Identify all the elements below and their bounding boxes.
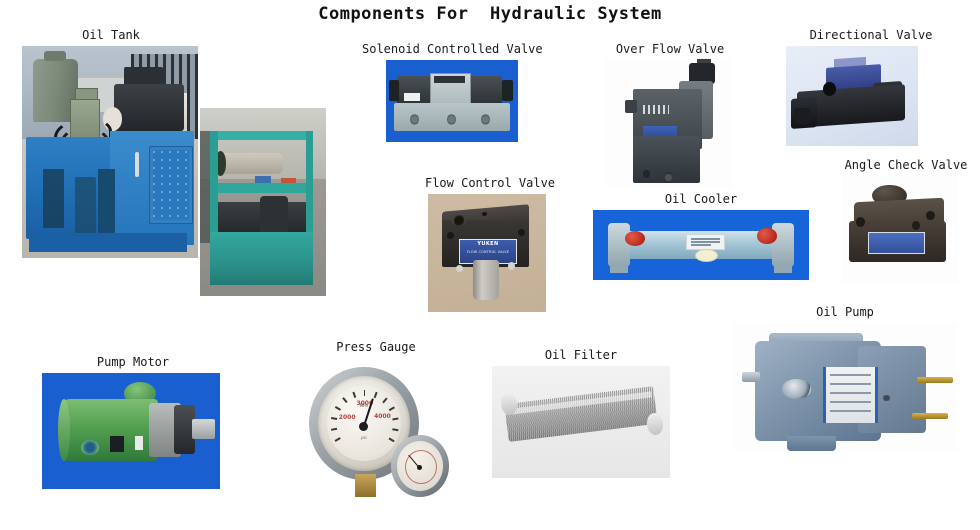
component-label-oil-pump: Oil Pump xyxy=(725,305,965,319)
photo-variable-displacement-piston-pump[interactable] xyxy=(733,323,957,451)
component-label-solenoid-controlled-valve: Solenoid Controlled Valve xyxy=(362,42,542,56)
gauge-units: MPa xyxy=(327,403,401,408)
component-flow-control-valve[interactable]: Flow Control Valve YUKEN FLOW CONTROL VA… xyxy=(418,176,562,316)
nameplate-text: FLOW CONTROL VALVE xyxy=(460,250,517,254)
photo-mesh-filter-element[interactable] xyxy=(492,366,670,478)
component-label-over-flow-valve: Over Flow Valve xyxy=(597,42,743,56)
photo-directional-control-valve-black-blue[interactable] xyxy=(786,46,918,146)
component-oil-tank[interactable]: Oil Tank xyxy=(18,28,204,260)
photo-relief-valve-grey[interactable] xyxy=(605,58,733,188)
photo-pressure-gauge-large[interactable]: 2000 3000 4000 MPa psi xyxy=(300,358,452,500)
photo-shell-and-tube-oil-cooler[interactable] xyxy=(593,210,809,280)
photo-pressure-gauge-small[interactable] xyxy=(391,435,449,497)
component-over-flow-valve[interactable]: Over Flow Valve xyxy=(597,42,743,190)
gauge-mark-1: 2000 xyxy=(339,414,356,421)
component-oil-cooler[interactable]: Oil Cooler xyxy=(585,192,817,284)
nameplate-brand: YUKEN xyxy=(460,241,517,247)
photo-angle-check-valve-brown[interactable] xyxy=(842,176,958,284)
component-label-oil-cooler: Oil Cooler xyxy=(585,192,817,206)
component-directional-valve[interactable]: Directional Valve xyxy=(778,28,964,150)
page-title: Components For Hydraulic System xyxy=(0,4,980,24)
gauge-brand-text: psi xyxy=(327,435,401,440)
photo-green-axial-piston-pump-motor[interactable] xyxy=(42,373,220,489)
component-label-directional-valve: Directional Valve xyxy=(778,28,964,42)
component-oil-tank-secondary[interactable] xyxy=(200,108,326,298)
poster-board: Components For Hydraulic System Oil Tank xyxy=(0,0,980,530)
component-label-oil-filter: Oil Filter xyxy=(488,348,674,362)
component-oil-pump[interactable]: Oil Pump xyxy=(725,305,965,455)
gauge-mark-3: 4000 xyxy=(374,413,391,420)
component-label-pump-motor: Pump Motor xyxy=(40,355,226,369)
photo-blue-hydraulic-power-unit[interactable] xyxy=(22,46,198,258)
component-label-press-gauge: Press Gauge xyxy=(292,340,460,354)
photo-solenoid-valve-on-blue-background[interactable] xyxy=(386,60,518,142)
component-oil-filter[interactable]: Oil Filter xyxy=(488,348,674,488)
component-label-oil-tank: Oil Tank xyxy=(18,28,204,42)
component-pump-motor[interactable]: Pump Motor xyxy=(40,355,226,495)
photo-teal-hydraulic-power-unit[interactable] xyxy=(200,108,326,296)
component-label-flow-control-valve: Flow Control Valve xyxy=(418,176,562,190)
photo-flow-control-valve-yuken[interactable]: YUKEN FLOW CONTROL VALVE xyxy=(428,194,546,312)
component-label-angle-check-valve: Angle Check Valve xyxy=(838,158,974,172)
component-press-gauge[interactable]: Press Gauge xyxy=(292,340,460,500)
component-solenoid-controlled-valve[interactable]: Solenoid Controlled Valve xyxy=(362,42,542,142)
component-angle-check-valve[interactable]: Angle Check Valve xyxy=(838,158,974,290)
gauge-brass-stem xyxy=(355,474,376,497)
